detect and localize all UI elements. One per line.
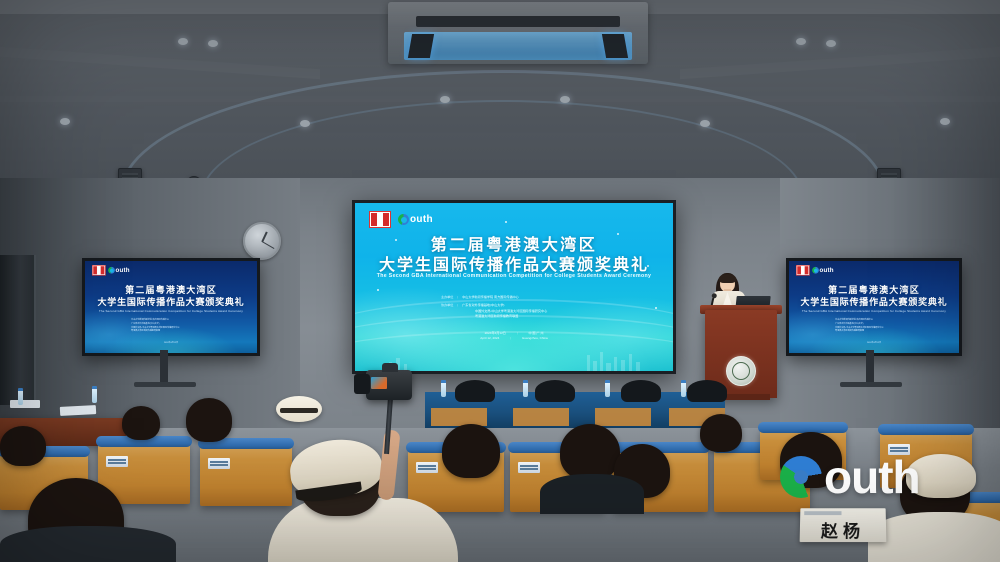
- audience-head: [700, 414, 742, 452]
- south-watermark: outh: [780, 450, 920, 504]
- downlight: [440, 96, 450, 103]
- ac-vent-left: [408, 34, 434, 58]
- camera-viewfinder-hump: [382, 363, 398, 372]
- university-emblem: [726, 356, 756, 386]
- right-display: outh 第二届粤港澳大湾区 大学生国际传播作品大赛颁奖典礼 The Secon…: [786, 258, 962, 356]
- front-row-chair: [455, 380, 495, 402]
- left-display-heading-en: The Second GBA International Communicati…: [85, 309, 257, 313]
- main-heading-en: The Second GBA International Communicati…: [355, 273, 673, 279]
- front-row-chair: [535, 380, 575, 402]
- south-brand-logo: outh: [108, 267, 130, 274]
- front-row-chair: [621, 380, 661, 402]
- name-card-header-strip: [804, 511, 882, 515]
- organizer-row: 主办单位 | 中山大学新闻传播学院 南方国际传播中心: [441, 295, 547, 300]
- seat-label: [208, 458, 230, 469]
- organizer-extra-2: 粤港澳大湾区新闻传播教育联盟: [475, 314, 547, 319]
- left-display-footer: 2024年4月12日: [85, 341, 257, 344]
- front-desk-panel: [595, 408, 651, 426]
- downlight: [940, 118, 950, 125]
- ceiling-band-left: [0, 47, 320, 79]
- auditorium-scene: outh 第二届粤港澳大湾区 大学生国际传播作品大赛颁奖典礼 The Secon…: [0, 0, 1000, 562]
- ceiling: [0, 0, 1000, 200]
- right-display-fineprint: 中山大学新闻传播学院 南方国际传播中心 广东省对外传播基地(中山大学) 中国外文…: [835, 319, 884, 334]
- footer-date-cn: 2024年4月12日: [485, 331, 506, 335]
- audience-head: [442, 424, 500, 478]
- decor-sparkle: [505, 221, 507, 223]
- left-display-heading-cn2: 大学生国际传播作品大赛颁奖典礼: [85, 295, 257, 308]
- downlight: [60, 118, 70, 125]
- water-bottle: [18, 388, 23, 405]
- seat-label: [416, 462, 438, 473]
- downlight: [560, 96, 570, 103]
- audience-shoulders: [868, 512, 1000, 562]
- organizer-sep: |: [457, 303, 458, 308]
- auditorium-seat: [200, 444, 292, 506]
- downlight: [300, 120, 310, 127]
- ac-diffuser: [404, 32, 632, 60]
- right-display-stand: [866, 350, 874, 384]
- wall-clock: [243, 222, 281, 260]
- left-display-stand: [160, 350, 168, 384]
- audience-head: [0, 426, 46, 466]
- paper-sheet: [10, 400, 40, 408]
- left-display-base: [134, 382, 196, 387]
- ceiling-air-conditioner: [388, 2, 648, 64]
- water-bottle: [92, 386, 97, 403]
- organizer-label: 协办单位: [441, 303, 453, 308]
- name-card: 赵杨: [800, 508, 887, 542]
- straw-hat: [276, 396, 322, 422]
- water-bottle: [605, 380, 610, 397]
- south-watermark-text: outh: [824, 450, 920, 504]
- footer-place-cn: 中 国 广 州: [528, 331, 543, 335]
- main-screen-logo: outh: [369, 211, 433, 228]
- book-logo-icon: [369, 211, 391, 228]
- front-desk-panel: [513, 408, 569, 426]
- front-row-chair: [687, 380, 727, 402]
- downlight: [178, 38, 188, 45]
- downlight: [208, 40, 218, 47]
- front-row-desks: [425, 392, 725, 428]
- south-globe-icon: [398, 214, 409, 225]
- organizer-value: 中山大学新闻传播学院 南方国际传播中心: [462, 295, 519, 300]
- organizer-sep: |: [457, 295, 458, 300]
- door-frame: [0, 255, 36, 405]
- book-logo-icon: [92, 265, 106, 276]
- downlight: [700, 120, 710, 127]
- left-display-logo: outh: [92, 265, 130, 276]
- footer-en-row: April 12, 2024 | Guangzhou, China: [355, 336, 673, 341]
- left-display: outh 第二届粤港澳大湾区 大学生国际传播作品大赛颁奖典礼 The Secon…: [82, 258, 260, 356]
- name-card-name: 赵杨: [800, 517, 887, 542]
- water-bottle: [523, 380, 528, 397]
- water-bottle: [441, 380, 446, 397]
- south-brand-logo: outh: [812, 267, 834, 274]
- organizer-label: 主办单位: [441, 295, 453, 300]
- south-brand-text: outh: [410, 214, 433, 225]
- south-brand-logo: outh: [398, 214, 433, 225]
- footer-date-en: April 12, 2024: [480, 336, 499, 340]
- main-heading-cn-line2: 大学生国际传播作品大赛颁奖典礼: [355, 251, 673, 275]
- main-led-screen: outh 第二届粤港澳大湾区 大学生国际传播作品大赛颁奖典礼 The Secon…: [352, 200, 676, 374]
- left-display-fineprint: 中山大学新闻传播学院 南方国际传播中心 广东省对外传播基地(中山大学) 中国外文…: [131, 319, 180, 334]
- decor-skyline: [355, 347, 673, 371]
- south-globe-icon: [812, 267, 819, 274]
- right-display-logo: outh: [796, 265, 834, 276]
- south-globe-icon: [780, 456, 822, 498]
- dslr-camera: [366, 370, 412, 400]
- seat-back-cap: [878, 424, 974, 435]
- south-globe-icon: [108, 267, 115, 274]
- audience-head: [186, 398, 232, 442]
- camera-lcd-screen: [371, 377, 387, 389]
- footer-place-en: Guangzhou, China: [522, 336, 548, 340]
- ceiling-band-right: [680, 47, 1000, 79]
- right-display-heading-cn2: 大学生国际传播作品大赛颁奖典礼: [789, 295, 959, 308]
- camera-lens: [354, 374, 370, 394]
- audience-shoulders: [540, 474, 644, 514]
- decor-sparkle: [655, 307, 657, 309]
- seat-label: [106, 456, 128, 467]
- presenter-fringe: [719, 274, 736, 283]
- seat-label: [518, 462, 540, 473]
- right-display-footer: 2024年4月12日: [789, 341, 959, 344]
- footer-sep: |: [500, 336, 521, 341]
- right-display-base: [840, 382, 902, 387]
- audience-shoulders: [0, 526, 176, 562]
- organizer-block: 主办单位 | 中山大学新闻传播学院 南方国际传播中心 协办单位 | 广东省对外传…: [441, 295, 547, 320]
- paper-sheet: [60, 405, 96, 416]
- book-logo-icon: [796, 265, 810, 276]
- audience-head: [122, 406, 160, 440]
- downlight: [826, 40, 836, 47]
- seat-back-cap: [758, 422, 848, 433]
- ac-intake-slot: [416, 16, 620, 27]
- water-bottle: [681, 380, 686, 397]
- clock-minute-hand: [262, 241, 275, 249]
- decor-sparkle: [377, 289, 379, 291]
- main-screen-footer: 2024年4月12日 | 中 国 广 州 April 12, 2024 | Gu…: [355, 331, 673, 341]
- ac-vent-right: [602, 34, 628, 58]
- front-desk-panel: [431, 408, 487, 426]
- downlight: [796, 38, 806, 45]
- audience-head: [560, 424, 620, 480]
- right-display-heading-en: The Second GBA International Communicati…: [789, 309, 959, 313]
